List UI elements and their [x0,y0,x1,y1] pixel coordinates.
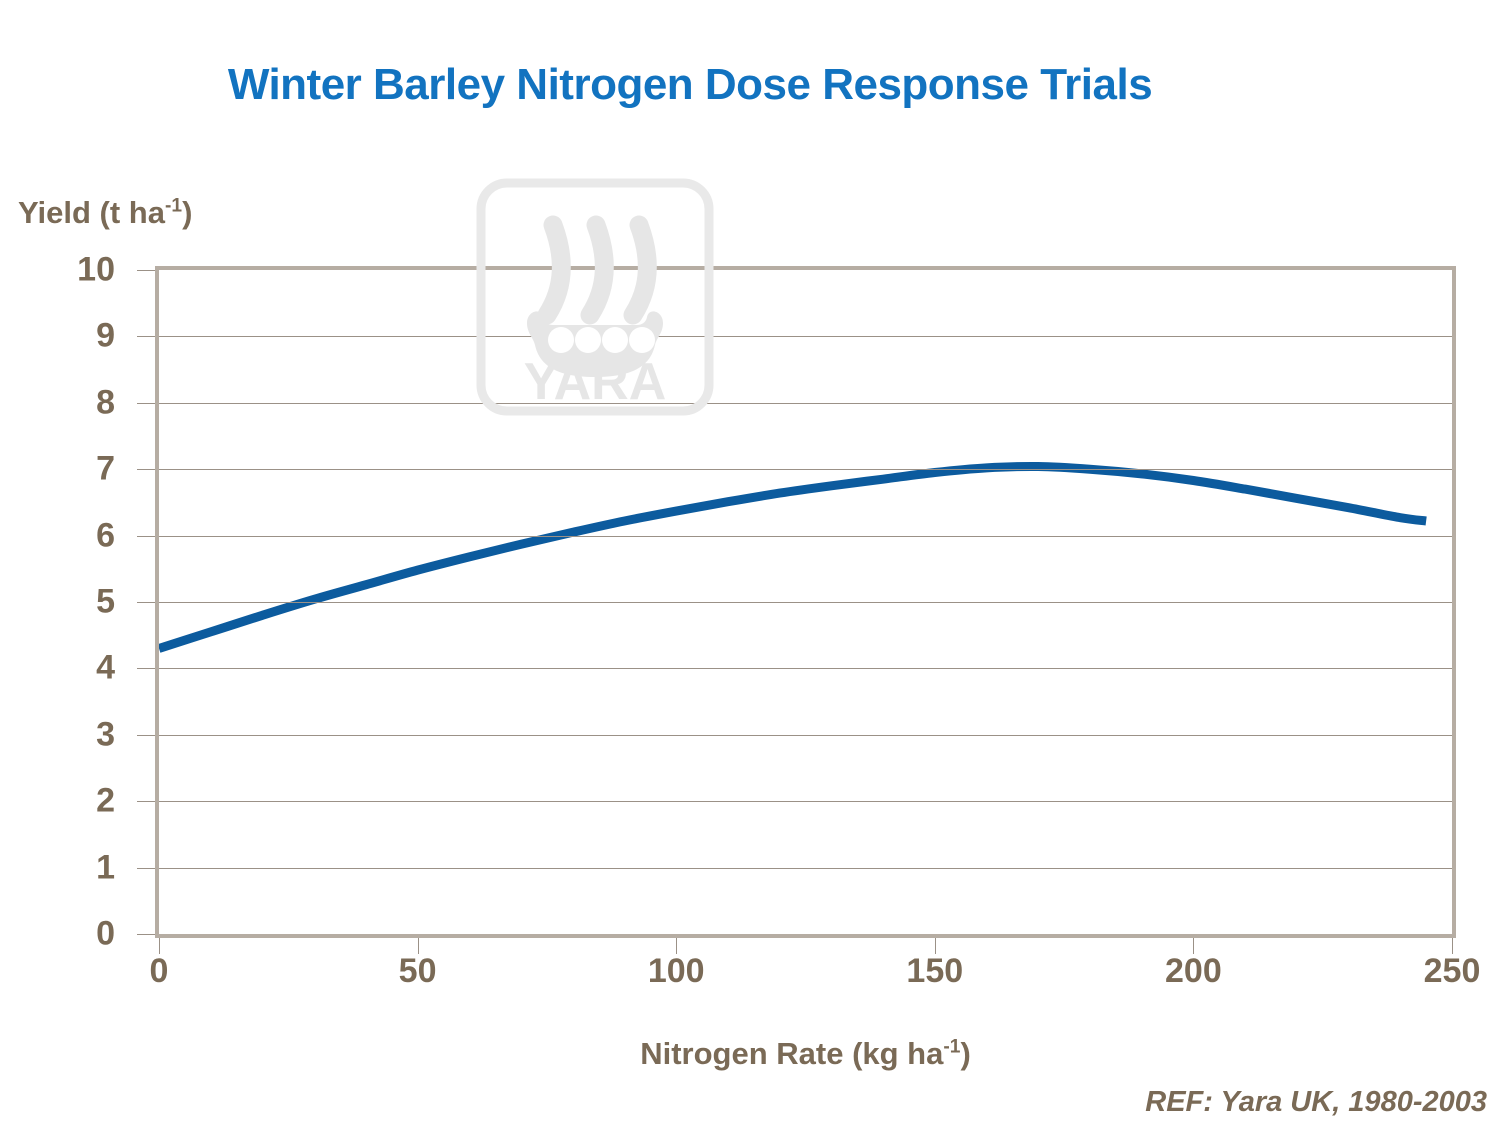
y-tick-mark-3 [137,735,155,736]
y-axis-title: Yield (t ha-1) [18,195,192,231]
y-tick-label-0: 0 [25,915,115,954]
y-tick-mark-5 [137,602,155,603]
x-tick-label-50: 50 [399,952,437,991]
x-tick-label-200: 200 [1165,952,1222,991]
gridline-y-1 [159,868,1452,869]
x-tick-mark-250 [1452,938,1453,954]
x-axis-title-base: Nitrogen Rate (kg ha [640,1036,943,1071]
x-axis-title-superscript: -1 [943,1037,960,1058]
gridline-y-8 [159,403,1452,404]
y-tick-label-6: 6 [25,516,115,555]
y-tick-mark-2 [137,801,155,802]
y-tick-label-3: 3 [25,715,115,754]
y-tick-label-2: 2 [25,782,115,821]
gridline-y-7 [159,469,1452,470]
x-tick-label-100: 100 [648,952,705,991]
y-tick-mark-6 [137,536,155,537]
y-tick-mark-4 [137,668,155,669]
y-tick-label-1: 1 [25,848,115,887]
y-axis-title-base: Yield (t ha [18,195,165,230]
x-tick-label-0: 0 [150,952,169,991]
x-tick-mark-200 [1193,938,1194,954]
plot-area [155,266,1456,938]
y-tick-label-5: 5 [25,583,115,622]
gridline-y-6 [159,536,1452,537]
x-axis-title: Nitrogen Rate (kg ha-1) [155,1036,1456,1072]
x-tick-mark-150 [935,938,936,954]
y-tick-mark-10 [137,270,155,271]
x-tick-mark-50 [418,938,419,954]
reference-note: REF: Yara UK, 1980-2003 [1145,1086,1487,1119]
y-tick-label-7: 7 [25,450,115,489]
gridline-y-3 [159,735,1452,736]
gridline-y-5 [159,602,1452,603]
y-tick-label-8: 8 [25,383,115,422]
gridline-y-9 [159,336,1452,337]
x-axis-title-tail: ) [960,1036,970,1071]
y-tick-mark-0 [137,934,155,935]
y-tick-mark-7 [137,469,155,470]
x-tick-label-150: 150 [906,952,963,991]
gridline-y-4 [159,668,1452,669]
page-title: Winter Barley Nitrogen Dose Response Tri… [0,60,1380,110]
y-tick-mark-9 [137,336,155,337]
series-path-0 [159,466,1426,648]
y-tick-label-4: 4 [25,649,115,688]
y-axis-title-tail: ) [182,195,192,230]
y-tick-label-9: 9 [25,317,115,356]
x-tick-mark-0 [159,938,160,954]
plot-inner [159,270,1452,934]
x-tick-label-250: 250 [1424,952,1481,991]
y-tick-mark-1 [137,868,155,869]
x-tick-mark-100 [676,938,677,954]
y-tick-label-10: 10 [25,251,115,290]
y-tick-mark-8 [137,403,155,404]
y-axis-title-superscript: -1 [165,196,182,217]
gridline-y-2 [159,801,1452,802]
